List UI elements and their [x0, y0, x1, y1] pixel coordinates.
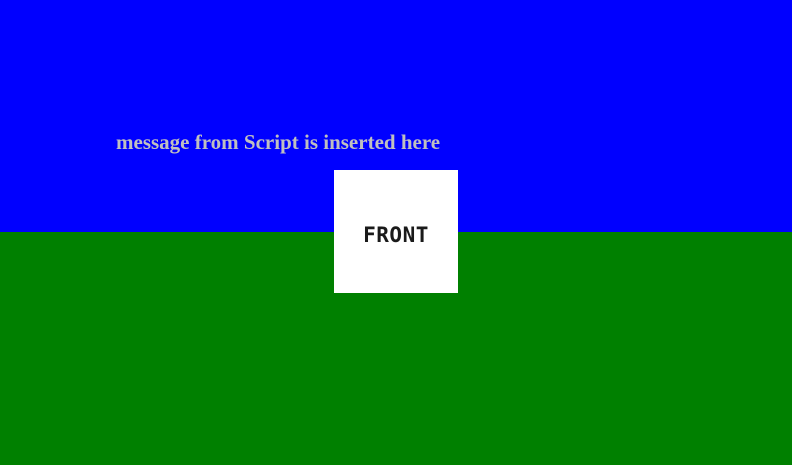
front-card[interactable]: FRONT — [334, 170, 458, 293]
top-script-message: message from Script is inserted here — [116, 128, 440, 156]
page-root: message from Script is inserted here FRO… — [0, 0, 792, 465]
front-card-label: FRONT — [363, 225, 429, 246]
